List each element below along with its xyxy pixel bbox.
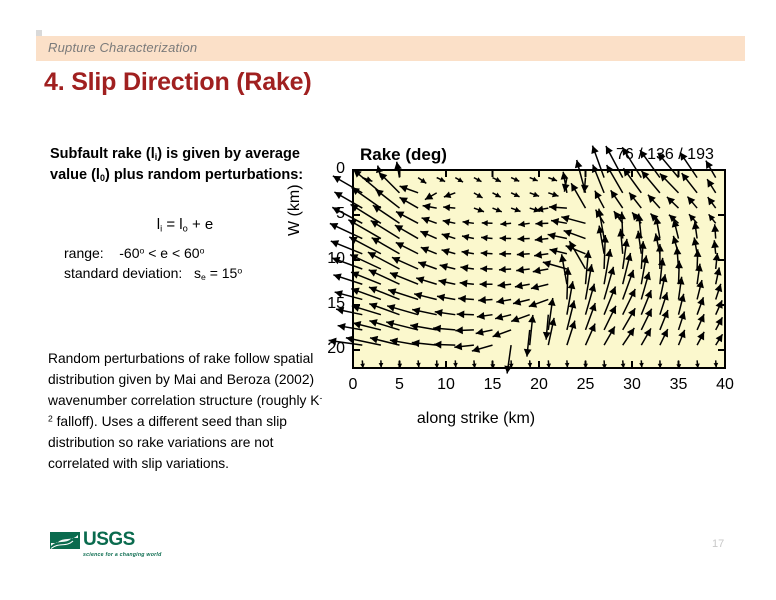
plot-title: Rake (deg) bbox=[360, 145, 447, 165]
x-tick-label: 0 bbox=[333, 376, 373, 394]
rake-formula: li = lo + e bbox=[50, 216, 320, 233]
description-paragraph: Random perturbations of rake follow spat… bbox=[48, 349, 326, 475]
x-tick-label: 5 bbox=[380, 376, 420, 394]
usgs-wordmark: USGS bbox=[83, 529, 162, 551]
range-line: range: -60o < e < 60o bbox=[64, 245, 204, 261]
usgs-logo: USGS science for a changing world bbox=[50, 530, 198, 559]
standard-deviation-line: standard deviation: se = 15o bbox=[64, 265, 242, 282]
arrow-field bbox=[329, 146, 723, 374]
breadcrumb: Rupture Characterization bbox=[48, 40, 197, 55]
x-axis-label: along strike (km) bbox=[417, 410, 535, 428]
page-title: 4. Slip Direction (Rake) bbox=[44, 68, 312, 97]
x-tick-label: 35 bbox=[659, 376, 699, 394]
x-tick-label: 30 bbox=[612, 376, 652, 394]
x-tick-label: 10 bbox=[426, 376, 466, 394]
y-tick-label: 15 bbox=[315, 295, 345, 313]
x-tick-label: 20 bbox=[519, 376, 559, 394]
usgs-tagline: science for a changing world bbox=[83, 552, 162, 558]
x-tick-label: 25 bbox=[566, 376, 606, 394]
plot-stat-label: 76 / 136 / 193 bbox=[616, 146, 714, 164]
page-number: 17 bbox=[712, 538, 724, 550]
y-tick-label: 10 bbox=[315, 250, 345, 268]
x-tick-label: 15 bbox=[473, 376, 513, 394]
lead-statement: Subfault rake (li) is given by average v… bbox=[50, 144, 320, 186]
x-tick-label: 40 bbox=[705, 376, 745, 394]
